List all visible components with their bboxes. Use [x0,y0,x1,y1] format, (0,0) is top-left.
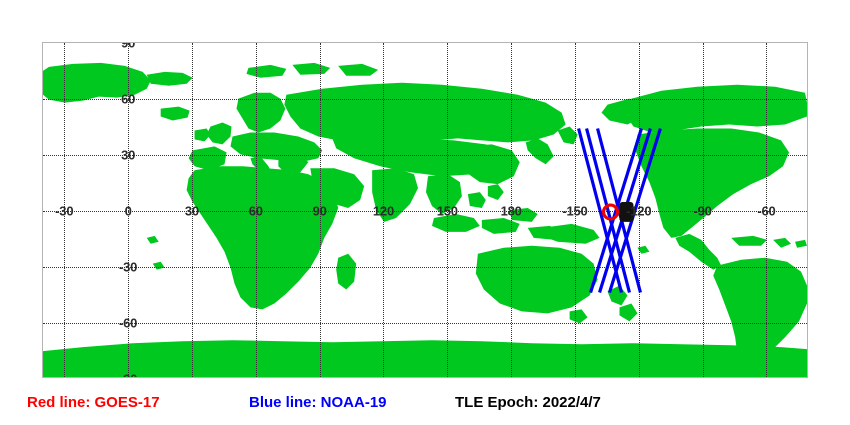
lon-tick-label: -60 [757,204,775,219]
legend-bar: Red line: GOES-17 Blue line: NOAA-19 TLE… [0,392,850,425]
lon-tick-label: 60 [249,204,263,219]
world-landmass-layer [43,43,807,377]
land-polygons [43,63,807,377]
lon-tick-label: 0 [125,204,132,219]
lon-tick-label: -150 [562,204,587,219]
lon-tick-label: 120 [373,204,394,219]
lon-tick-label: 30 [185,204,199,219]
lon-tick-label: -90 [694,204,712,219]
lat-tick-label: -30 [119,260,137,275]
lon-tick-label: 150 [437,204,458,219]
lat-tick-label: -60 [119,316,137,331]
legend-red-line: Red line: GOES-17 [27,392,160,414]
lon-tick-label: 90 [313,204,327,219]
lat-tick-label: -90 [119,372,137,379]
map-plot-area[interactable]: -300306090120150180-150-120-90-60906030-… [42,42,808,378]
lat-tick-label: 30 [121,148,135,163]
lon-tick-label: -30 [55,204,73,219]
legend-blue-line: Blue line: NOAA-19 [249,392,387,414]
lat-tick-label: 60 [121,92,135,107]
lon-tick-label: 180 [501,204,522,219]
satellite-ground-track-map: -300306090120150180-150-120-90-60906030-… [0,0,850,425]
tle-epoch-label: TLE Epoch: 2022/4/7 [455,392,601,414]
lat-tick-label: 90 [121,42,135,51]
lon-tick-label: -120 [626,204,651,219]
